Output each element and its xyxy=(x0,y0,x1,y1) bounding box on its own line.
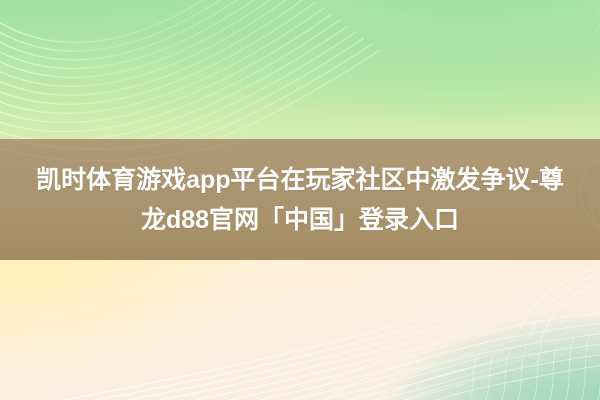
page-title: 凯时体育游戏app平台在玩家社区中激发争议-尊 龙d88官网「中国」登录入口 xyxy=(10,160,590,240)
title-line-2: 龙d88官网「中国」登录入口 xyxy=(10,200,590,240)
banner-image: 凯时体育游戏app平台在玩家社区中激发争议-尊 龙d88官网「中国」登录入口 xyxy=(0,0,600,400)
title-line-1: 凯时体育游戏app平台在玩家社区中激发争议-尊 xyxy=(10,160,590,200)
title-band: 凯时体育游戏app平台在玩家社区中激发争议-尊 龙d88官网「中国」登录入口 xyxy=(0,139,600,260)
